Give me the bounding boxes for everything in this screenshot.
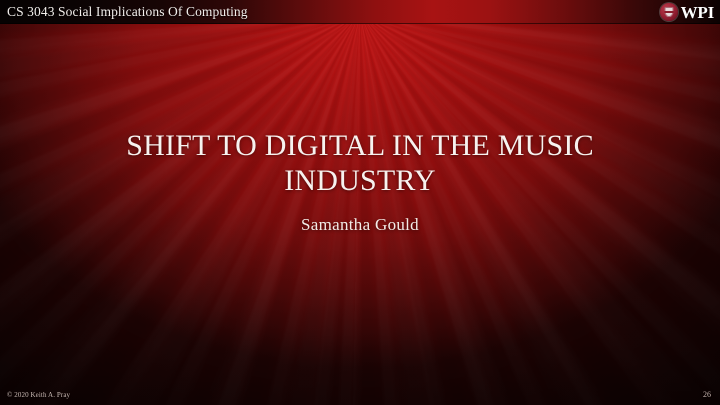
wpi-wordmark: WPI (681, 4, 714, 21)
wpi-seal-icon (660, 3, 678, 21)
slide-content: SHIFT TO DIGITAL IN THE MUSIC INDUSTRY S… (0, 24, 720, 379)
wpi-brand-logo: WPI (660, 3, 714, 21)
wpi-seal-band-icon (664, 11, 673, 13)
footer-page-number: 26 (703, 390, 711, 399)
slide-header-bar: CS 3043 Social Implications Of Computing… (0, 0, 720, 24)
presentation-slide: CS 3043 Social Implications Of Computing… (0, 0, 720, 405)
course-title: CS 3043 Social Implications Of Computing (7, 4, 248, 20)
slide-subtitle-author: Samantha Gould (80, 215, 640, 235)
footer-copyright: © 2020 Keith A. Pray (7, 391, 70, 399)
slide-title: SHIFT TO DIGITAL IN THE MUSIC INDUSTRY (110, 129, 610, 199)
